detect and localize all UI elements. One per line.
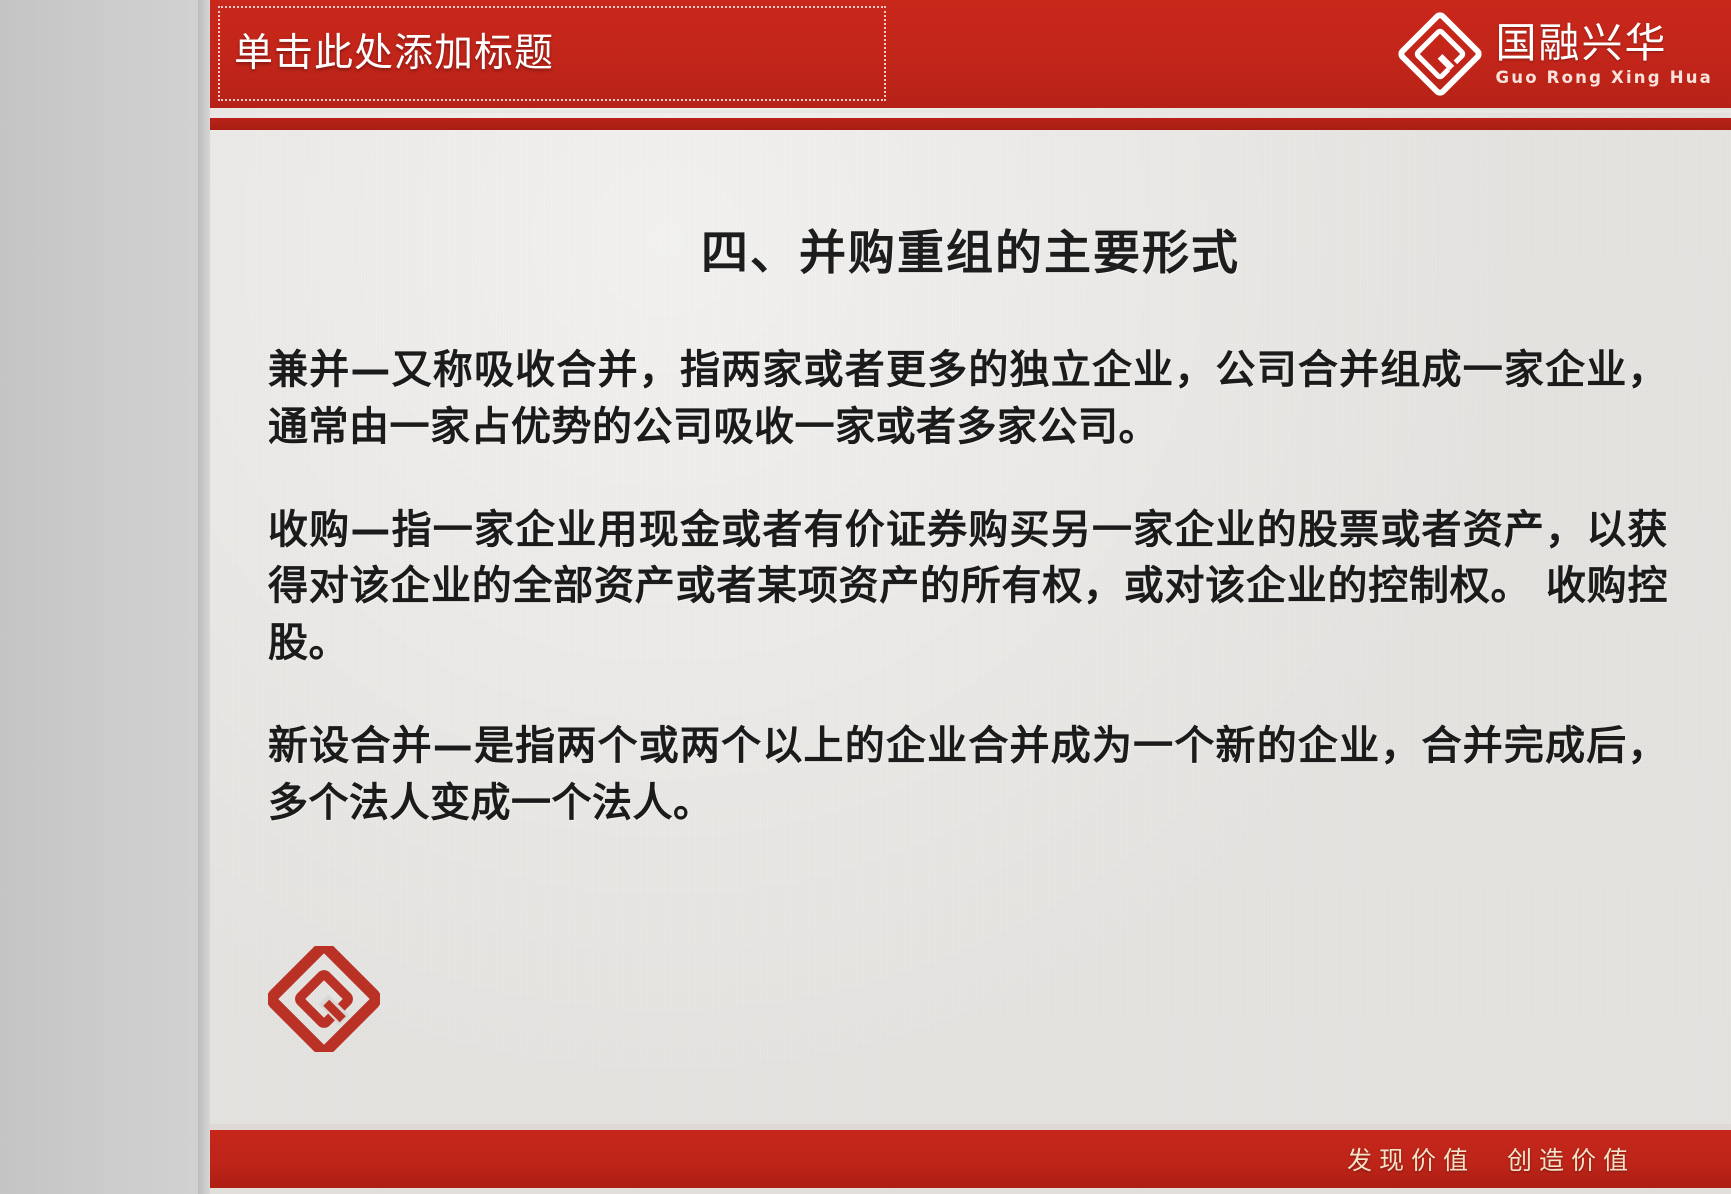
footer-base-edge	[210, 1188, 1731, 1194]
title-placeholder-box[interactable]: 单击此处添加标题	[218, 6, 886, 101]
guorong-diamond-g-watermark-icon	[268, 946, 380, 1052]
left-gutter	[0, 0, 210, 1194]
brand-logo: 国融兴华 Guo Rong Xing Hua	[1398, 8, 1713, 100]
content-paragraphs: 兼并—又称吸收合并，指两家或者更多的独立企业，公司合并组成一家企业，通常由一家占…	[268, 342, 1668, 832]
footer-tagline: 发现价值 创造价值	[1347, 1141, 1731, 1177]
brand-name-cn: 国融兴华	[1496, 23, 1668, 65]
paragraph-consolidation: 新设合并—是指两个或两个以上的企业合并成为一个新的企业，合并完成后，多个法人变成…	[268, 718, 1668, 832]
brand-wordmark: 国融兴华 Guo Rong Xing Hua	[1496, 23, 1713, 87]
left-gutter-edge	[198, 0, 210, 1194]
paragraph-acquisition: 收购—指一家企业用现金或者有价证券购买另一家企业的股票或者资产，以获得对该企业的…	[268, 502, 1668, 672]
slide-title-placeholder-text[interactable]: 单击此处添加标题	[220, 34, 554, 73]
paragraph-merger: 兼并—又称吸收合并，指两家或者更多的独立企业，公司合并组成一家企业，通常由一家占…	[268, 342, 1668, 456]
presentation-slide: 单击此处添加标题 国融兴华 Guo Rong Xing Hua	[210, 0, 1731, 1194]
slide-viewer: 单击此处添加标题 国融兴华 Guo Rong Xing Hua	[0, 0, 1731, 1194]
brand-name-en: Guo Rong Xing Hua	[1496, 68, 1713, 87]
header-accent-rule	[210, 118, 1731, 130]
section-heading: 四、并购重组的主要形式	[210, 214, 1731, 283]
guorong-diamond-g-logo-icon	[1398, 12, 1482, 96]
slide-footer-band: 发现价值 创造价值	[210, 1130, 1731, 1188]
slide-body: 四、并购重组的主要形式 兼并—又称吸收合并，指两家或者更多的独立企业，公司合并组…	[210, 130, 1731, 1102]
header-underline	[210, 110, 1731, 113]
